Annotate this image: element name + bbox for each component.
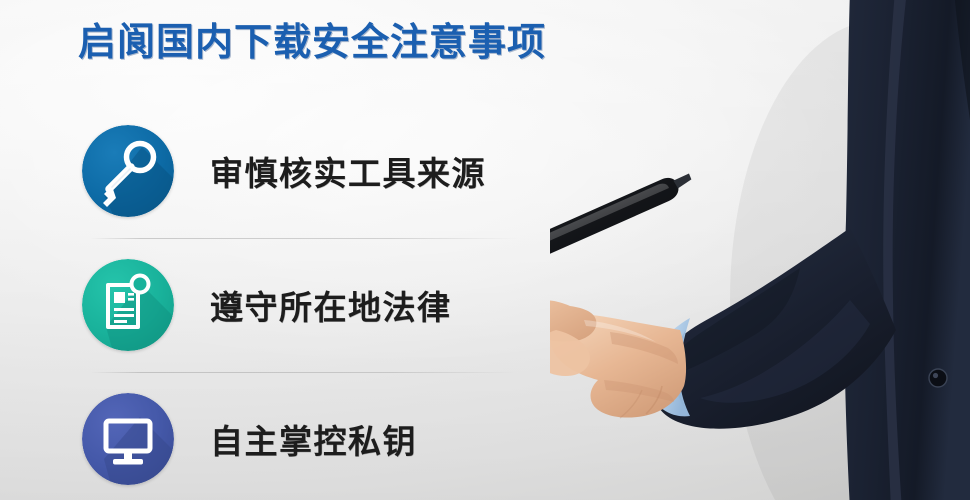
page-title: 启阆国内下载安全注意事项	[78, 24, 546, 62]
list-item-label: 自主掌控私钥	[210, 415, 417, 463]
list-item-label: 遵守所在地法律	[210, 281, 452, 329]
list-item[interactable]: 自主掌控私钥	[0, 372, 560, 500]
list-divider	[90, 238, 518, 239]
list-divider	[90, 372, 518, 373]
desktop-monitor-icon	[82, 393, 174, 485]
poster-canvas: 启阆国内下载安全注意事项	[0, 0, 970, 500]
businessman-photo	[550, 0, 970, 500]
certificate-document-icon	[82, 259, 174, 351]
tips-list: 审慎核实工具来源	[0, 104, 560, 500]
magnifier-key-icon	[82, 125, 174, 217]
list-item[interactable]: 审慎核实工具来源	[0, 104, 560, 238]
list-item-label: 审慎核实工具来源	[210, 147, 486, 195]
list-item[interactable]: 遵守所在地法律	[0, 238, 560, 372]
